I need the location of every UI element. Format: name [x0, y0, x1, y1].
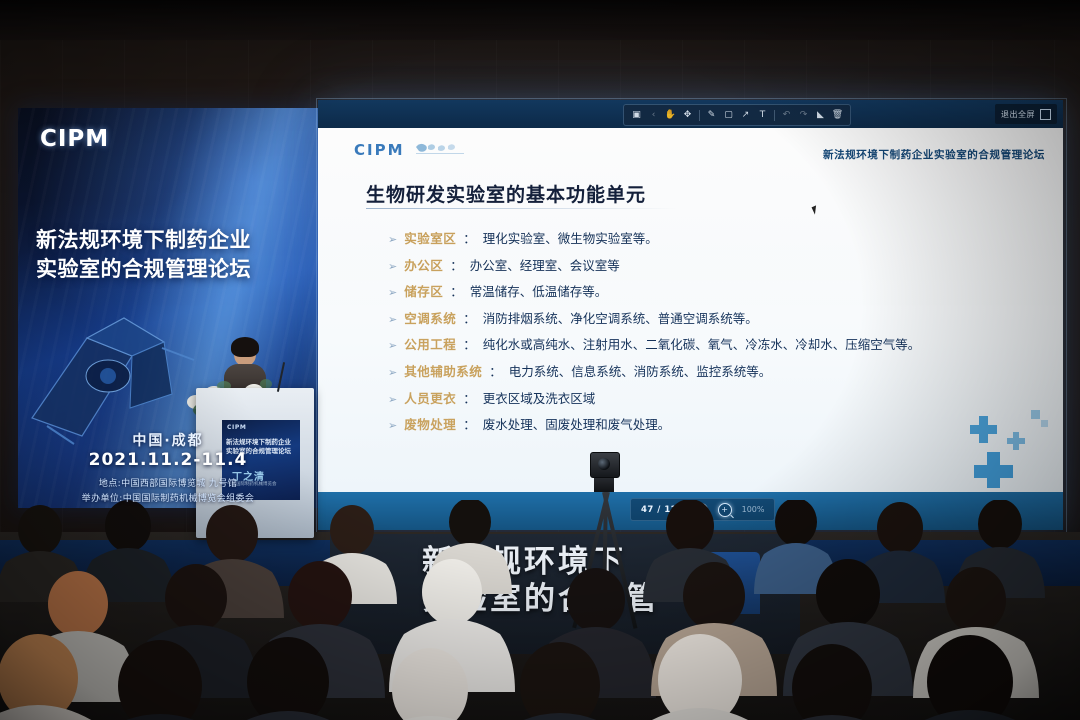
- bullet-body: 纯化水或高纯水、注射用水、二氧化碳、氧气、冷冻水、冷却水、压缩空气等。: [483, 338, 921, 352]
- redo-tool-icon[interactable]: ↷: [798, 109, 809, 122]
- bullet-arrow-icon: ➢: [388, 420, 397, 432]
- bullet-label: 废物处理: [404, 418, 456, 432]
- eraser-tool-icon[interactable]: ◣: [815, 109, 826, 122]
- banner-city: 中国·成都: [18, 430, 318, 450]
- mouse-cursor-icon: [812, 205, 820, 214]
- pen-tool-icon[interactable]: ✎: [706, 109, 717, 122]
- bullet-separator: ：: [489, 365, 502, 379]
- slide-bullet-list: ➢ 实验室区 ： 理化实验室、微生物实验室等。 ➢ 办公区 ： 办公室、经理室、…: [388, 232, 1038, 445]
- bullet-label: 空调系统: [404, 312, 456, 326]
- banner-title-line2: 实验室的合规管理论坛: [36, 255, 302, 284]
- toolbar-divider: [699, 110, 700, 121]
- list-item: ➢ 空调系统 ： 消防排烟系统、净化空调系统、普通空调系统等。: [388, 312, 1038, 326]
- bullet-body: 理化实验室、微生物实验室等。: [483, 232, 658, 246]
- event-banner: CIPM 新法规环境下制药企业 实验室的合规管理论坛 中国·成都 2021.11…: [18, 108, 318, 508]
- text-tool-icon[interactable]: T: [757, 109, 768, 122]
- bullet-arrow-icon: ➢: [388, 261, 397, 273]
- bullet-arrow-icon: ➢: [388, 234, 397, 246]
- list-item: ➢ 废物处理 ： 废水处理、固废处理和废气处理。: [388, 418, 1038, 432]
- slide-logo: CIPM: [354, 141, 405, 159]
- list-item: ➢ 人员更衣 ： 更衣区域及洗衣区域: [388, 392, 1038, 406]
- bullet-body: 办公室、经理室、会议室等: [470, 259, 620, 273]
- slide-header-title: 新法规环境下制药企业实验室的合规管理论坛: [823, 147, 1045, 162]
- hand-tool-icon[interactable]: ✋: [665, 109, 676, 122]
- exit-fullscreen-button[interactable]: 退出全屏: [995, 104, 1057, 124]
- annotation-toolbar[interactable]: ▣ ‹ ✋ ✥ ✎ ▢ ↗ T ↶ ↷ ◣ 🗑: [623, 104, 851, 126]
- pointer-tool-icon[interactable]: ‹: [648, 109, 659, 122]
- bullet-label: 人员更衣: [404, 392, 456, 406]
- list-item: ➢ 其他辅助系统 ： 电力系统、信息系统、消防系统、监控系统等。: [388, 365, 1038, 379]
- list-item: ➢ 公用工程 ： 纯化水或高纯水、注射用水、二氧化碳、氧气、冷冻水、冷却水、压缩…: [388, 338, 1038, 352]
- move-tool-icon[interactable]: ✥: [682, 109, 693, 122]
- bullet-separator: ：: [463, 392, 476, 406]
- bullet-label: 储存区: [404, 285, 443, 299]
- bullet-separator: ：: [463, 418, 476, 432]
- audience-area: [0, 500, 1080, 720]
- camera-lens-icon: [598, 458, 610, 470]
- banner-date: 2021.11.2-11.4: [18, 450, 318, 470]
- banner-title: 新法规环境下制药企业 实验室的合规管理论坛: [36, 226, 302, 284]
- banner-title-line1: 新法规环境下制药企业: [36, 226, 302, 255]
- delete-tool-icon[interactable]: 🗑: [832, 109, 843, 122]
- banner-logo: CIPM: [40, 126, 109, 152]
- bullet-label: 实验室区: [404, 232, 456, 246]
- fullscreen-icon: [1040, 109, 1051, 120]
- speaker-hair: [231, 337, 259, 357]
- bullet-body: 废水处理、固废处理和废气处理。: [483, 418, 671, 432]
- bullet-label: 办公区: [404, 259, 443, 273]
- bullet-separator: ：: [463, 338, 476, 352]
- list-item: ➢ 实验室区 ： 理化实验室、微生物实验室等。: [388, 232, 1038, 246]
- banner-organizer: 举办单位:中国国际制药机械博览会组委会: [18, 491, 318, 504]
- bullet-body: 更衣区域及洗衣区域: [483, 392, 596, 406]
- exit-fullscreen-label: 退出全屏: [1001, 109, 1035, 120]
- audience-silhouettes: [0, 500, 1080, 720]
- tripod-head: [594, 476, 614, 492]
- list-item: ➢ 储存区 ： 常温储存、低温储存等。: [388, 285, 1038, 299]
- ceiling-strip: [0, 0, 1080, 40]
- bullet-separator: ：: [463, 312, 476, 326]
- screenshot-root: CIPM 新法规环境下制药企业 实验室的合规管理论坛 中国·成都 2021.11…: [0, 0, 1080, 720]
- bullet-separator: ：: [463, 232, 476, 246]
- slide-title-underline: [366, 208, 676, 209]
- bullet-arrow-icon: ➢: [388, 314, 397, 326]
- arrow-tool-icon[interactable]: ↗: [740, 109, 751, 122]
- projection-screen[interactable]: ▣ ‹ ✋ ✥ ✎ ▢ ↗ T ↶ ↷ ◣ 🗑 退出全屏 CIPM: [318, 100, 1063, 530]
- undo-tool-icon[interactable]: ↶: [781, 109, 792, 122]
- bullet-arrow-icon: ➢: [388, 287, 397, 299]
- decorative-cross-icons: [961, 408, 1051, 488]
- bullet-body: 电力系统、信息系统、消防系统、监控系统等。: [509, 365, 772, 379]
- bullet-label: 公用工程: [404, 338, 456, 352]
- select-tool-icon[interactable]: ▣: [631, 109, 642, 122]
- bullet-arrow-icon: ➢: [388, 367, 397, 379]
- toolbar-divider: [774, 110, 775, 121]
- banner-venue: 地点:中国西部国际博览城 九号馆: [18, 476, 318, 489]
- rectangle-tool-icon[interactable]: ▢: [723, 109, 734, 122]
- slide-title: 生物研发实验室的基本功能单元: [366, 180, 646, 207]
- slide-secondary-logo-icon: [414, 140, 480, 158]
- banner-machine-graphic: [18, 298, 222, 448]
- bullet-separator: ：: [450, 259, 463, 273]
- bullet-separator: ：: [450, 285, 463, 299]
- bullet-body: 常温储存、低温储存等。: [470, 285, 608, 299]
- bullet-arrow-icon: ➢: [388, 340, 397, 352]
- slide-canvas: CIPM 新法规环境下制药企业实验室的合规管理论坛 生物研发实验室的基本功能单元…: [318, 128, 1063, 492]
- bullet-arrow-icon: ➢: [388, 394, 397, 406]
- list-item: ➢ 办公区 ： 办公室、经理室、会议室等: [388, 259, 1038, 273]
- bullet-label: 其他辅助系统: [404, 365, 482, 379]
- bullet-body: 消防排烟系统、净化空调系统、普通空调系统等。: [483, 312, 758, 326]
